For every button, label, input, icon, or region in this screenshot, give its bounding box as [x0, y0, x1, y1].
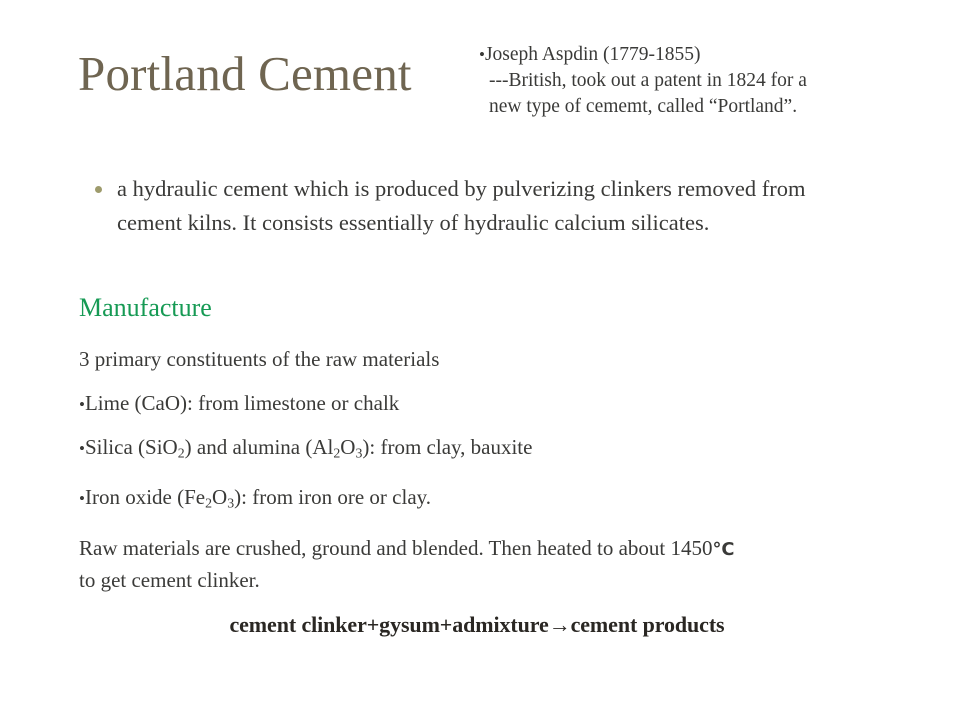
- page-title: Portland Cement: [78, 48, 412, 99]
- lead-bullet-text: a hydraulic cement which is produced by …: [117, 172, 865, 240]
- temperature-unit: °C: [713, 539, 735, 560]
- aspdin-note-block: •Joseph Aspdin (1779-1855) ---British, t…: [479, 42, 899, 120]
- note-line-3: new type of cememt, called “Portland”.: [479, 94, 899, 120]
- cement-equation: cement clinker+gysum+admixture→cement pr…: [0, 612, 960, 638]
- list-item-iron-oxide: •Iron oxide (Fe2O3): from iron ore or cl…: [79, 484, 919, 516]
- list-item-iron-oxide-label: Iron oxide (Fe2O3): from iron ore or cla…: [85, 485, 431, 509]
- process-line-2: to get cement clinker.: [79, 567, 919, 593]
- list-item-lime-label: Lime (CaO): from limestone or chalk: [85, 391, 399, 415]
- list-item-silica-label: Silica (SiO2) and alumina (Al2O3): from …: [85, 435, 533, 459]
- list-item-lime: •Lime (CaO): from limestone or chalk: [79, 390, 919, 416]
- process-line-1: Raw materials are crushed, ground and bl…: [79, 535, 919, 563]
- constituents-intro: 3 primary constituents of the raw materi…: [79, 346, 919, 372]
- bullet-dot-icon: [95, 186, 102, 193]
- section-heading-manufacture: Manufacture: [79, 294, 212, 323]
- cement-equation-text: cement clinker+gysum+admixture→cement pr…: [229, 612, 724, 638]
- note-line-1-text: Joseph Aspdin (1779-1855): [485, 44, 701, 65]
- process-line-1-text: Raw materials are crushed, ground and bl…: [79, 536, 713, 560]
- lead-bullet-item: a hydraulic cement which is produced by …: [95, 172, 865, 240]
- manufacture-body: 3 primary constituents of the raw materi…: [79, 346, 919, 593]
- note-line-2: ---British, took out a patent in 1824 fo…: [479, 68, 899, 94]
- list-item-silica: •Silica (SiO2) and alumina (Al2O3): from…: [79, 434, 919, 466]
- note-line-1: •Joseph Aspdin (1779-1855): [479, 42, 899, 68]
- slide-canvas: Portland Cement •Joseph Aspdin (1779-185…: [0, 0, 960, 720]
